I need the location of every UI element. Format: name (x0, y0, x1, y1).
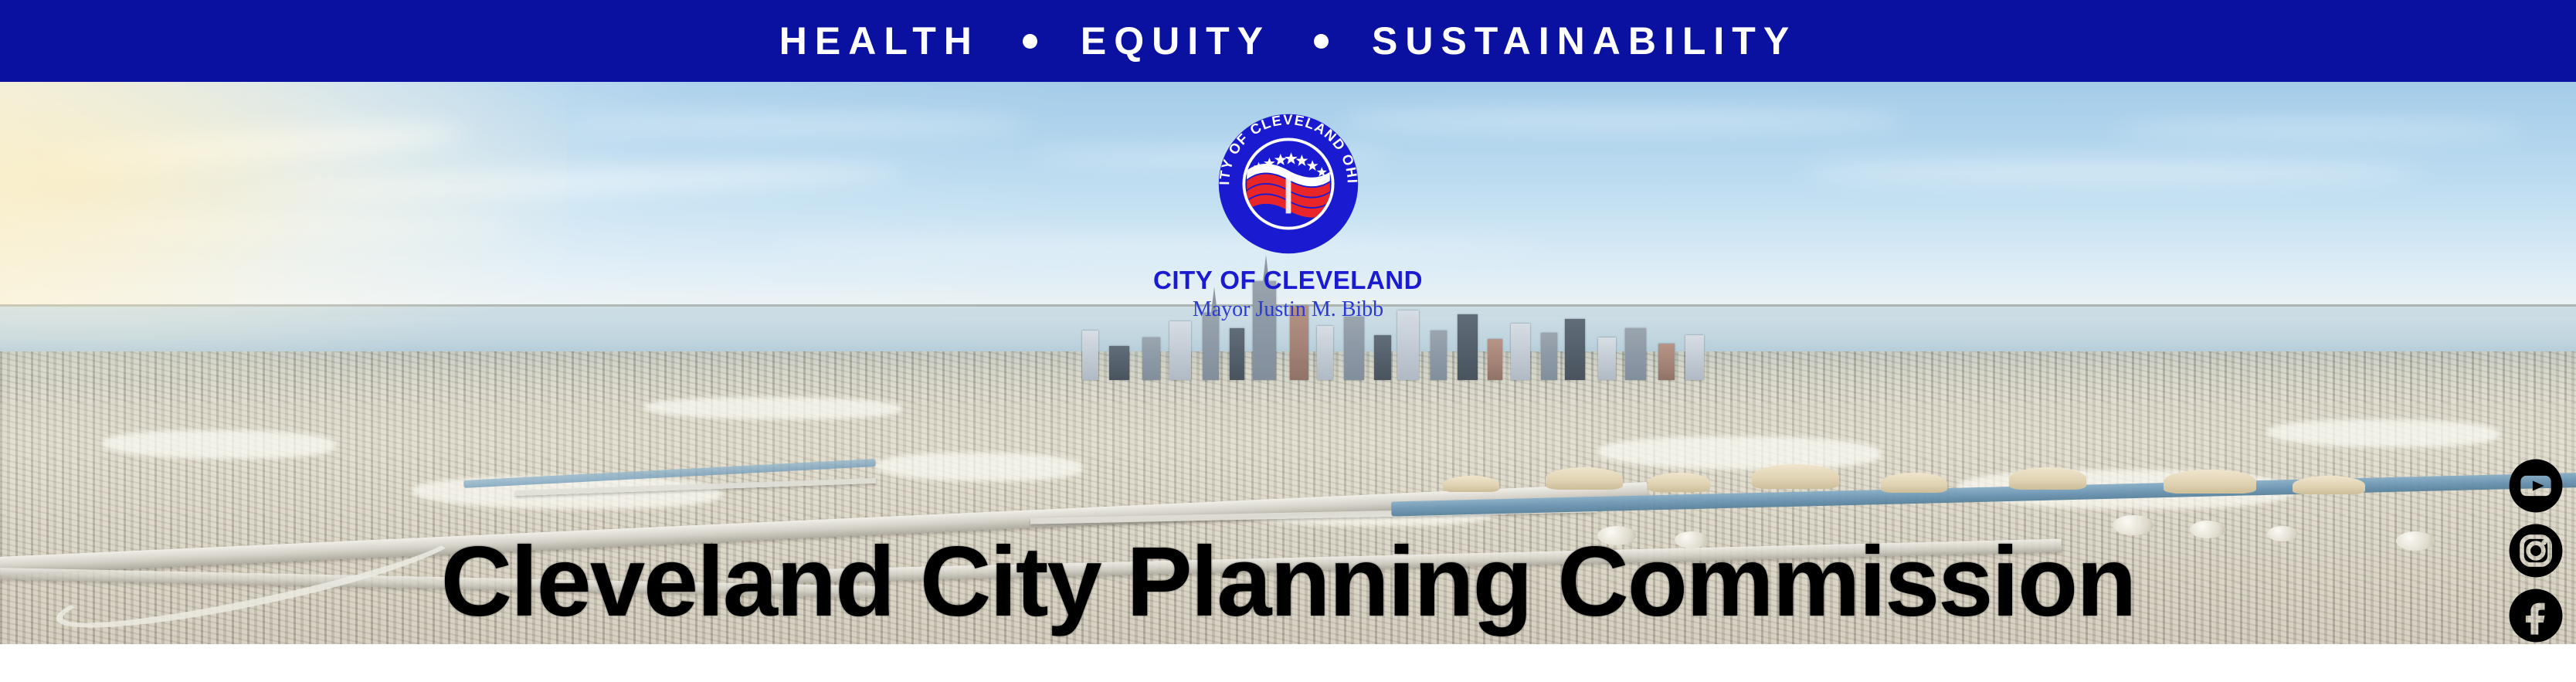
page-title: Cleveland City Planning Commission (0, 533, 2576, 632)
tagline-word-equity: EQUITY (1081, 22, 1271, 60)
instagram-icon[interactable]: Instagram (2504, 519, 2568, 582)
facebook-icon[interactable]: Facebook (2504, 584, 2568, 644)
aggregate-pile (2293, 476, 2364, 495)
urban-texture-band (0, 402, 2576, 459)
aggregate-pile (1648, 473, 1710, 492)
aggregate-pile (1546, 467, 1623, 490)
facebook-label: Facebook (2568, 584, 2568, 585)
hero-banner: CITY OF CLEVELAND OHIO (0, 82, 2576, 644)
tagline-word-sustainability: SUSTAINABILITY (1372, 22, 1797, 60)
tagline-banner: HEALTH EQUITY SUSTAINABILITY (0, 0, 2576, 82)
mayor-name: Mayor Justin M. Bibb (1088, 298, 1489, 322)
bullet-dot-icon (1314, 34, 1329, 49)
snow-patch (876, 453, 1082, 480)
cloud (0, 217, 515, 236)
aggregate-pile (1752, 464, 1839, 489)
youtube-icon[interactable]: YouTube (2504, 454, 2568, 517)
tagline-word-health: HEALTH (779, 22, 979, 60)
cloud (567, 116, 1030, 133)
aggregate-pile (1881, 473, 1948, 493)
cloud (1804, 161, 2422, 183)
bullet-dot-icon (1023, 34, 1037, 49)
city-wordmark: CITY OF CLEVELAND (1088, 267, 1489, 294)
snow-patch (103, 430, 334, 458)
instagram-label: Instagram (2568, 519, 2568, 520)
aggregate-pile (2164, 470, 2256, 494)
social-links-rail: YouTube Instagram (2500, 454, 2571, 644)
youtube-label: YouTube (2568, 454, 2568, 455)
page-root: HEALTH EQUITY SUSTAINABILITY (0, 0, 2576, 682)
city-brand-block: CITY OF CLEVELAND OHIO (1088, 110, 1489, 321)
aggregate-pile (2009, 467, 2086, 490)
snow-patch (644, 397, 902, 419)
cloud (2113, 121, 2525, 138)
aggregate-pile (1443, 476, 1499, 493)
tagline-banner-inner: HEALTH EQUITY SUSTAINABILITY (779, 22, 1797, 60)
snow-patch (1597, 436, 1881, 470)
snow-patch (2267, 419, 2499, 447)
city-of-cleveland-seal-icon: CITY OF CLEVELAND OHIO (1214, 110, 1363, 258)
